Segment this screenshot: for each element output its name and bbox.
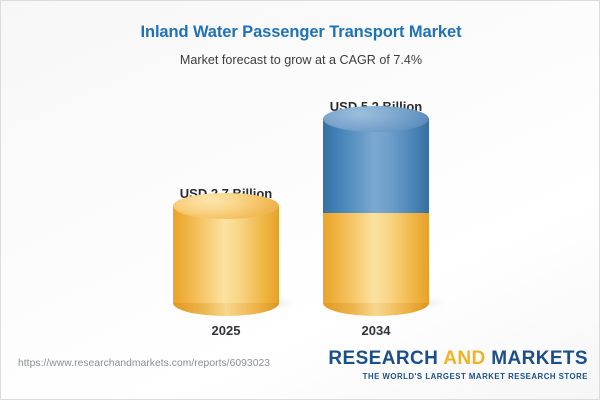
bar-segment-base-2034: [323, 213, 429, 303]
logo-wordmark: RESEARCH AND MARKETS: [328, 349, 588, 369]
chart-plot-area: USD 2.7 Billion 2025 USD 5.2 Billion: [1, 86, 600, 346]
chart-header: Inland Water Passenger Transport Market …: [1, 1, 600, 67]
logo-word-and: AND: [443, 348, 485, 369]
bar-cylinder-2034: [323, 119, 429, 303]
cylinder-body: [323, 213, 429, 303]
source-url-link[interactable]: https://www.researchandmarkets.com/repor…: [18, 358, 270, 369]
bar-cylinder-2025: [173, 206, 279, 303]
bar-segment-base-2025: [173, 206, 279, 303]
chart-footer: https://www.researchandmarkets.com/repor…: [1, 344, 600, 399]
bar-segment-growth-2034: [323, 119, 429, 213]
cylinder-top-cap: [173, 193, 279, 219]
category-label-2025: 2025: [146, 323, 306, 338]
cylinder-body: [323, 119, 429, 213]
logo-word-research: RESEARCH: [328, 348, 443, 369]
chart-subtitle: Market forecast to grow at a CAGR of 7.4…: [1, 42, 600, 67]
infographic-card: Inland Water Passenger Transport Market …: [0, 0, 600, 400]
cylinder-body: [173, 206, 279, 303]
logo-tagline: THE WORLD'S LARGEST MARKET RESEARCH STOR…: [328, 372, 588, 381]
cylinder-top-cap: [323, 106, 429, 132]
research-and-markets-logo[interactable]: RESEARCH AND MARKETS THE WORLD'S LARGEST…: [328, 349, 588, 381]
category-label-2034: 2034: [296, 323, 456, 338]
chart-title: Inland Water Passenger Transport Market: [1, 1, 600, 42]
logo-word-markets: MARKETS: [486, 348, 588, 369]
